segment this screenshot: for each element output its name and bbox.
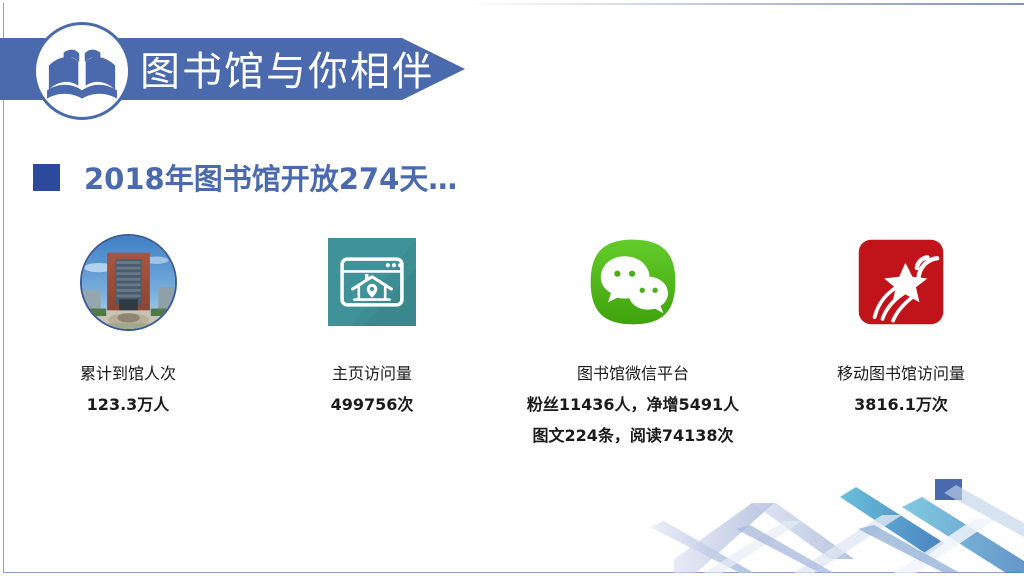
subtitle-text: 2018年图书馆开放274天… (84, 156, 457, 198)
subtitle-bullet-square (33, 164, 60, 191)
mobile-library-icon (857, 238, 945, 326)
wechat-icon (587, 236, 679, 328)
stat-value: 499756次 (331, 389, 414, 420)
top-gradient-rule (0, 3, 1024, 5)
blue-square-accent (935, 479, 962, 500)
stat-caption: 累计到馆人次 123.3万人 (80, 358, 176, 420)
stat-value: 3816.1万次 (837, 389, 965, 420)
stat-icon-wrap (80, 228, 177, 336)
open-book-icon (33, 22, 131, 120)
stat-label: 移动图书馆访问量 (837, 358, 965, 389)
stat-caption: 图书馆微信平台 粉丝11436人，净增5491人 图文224条，阅读74138次 (527, 358, 739, 451)
stat-label: 累计到馆人次 (80, 358, 176, 389)
stat-label: 图书馆微信平台 (527, 358, 739, 389)
stat-icon-wrap (328, 228, 416, 336)
stat-item-visitors: 累计到馆人次 123.3万人 (0, 228, 256, 451)
homepage-browser-icon (328, 238, 416, 326)
stat-caption: 主页访问量 499756次 (331, 358, 414, 420)
stat-item-mobile-library: 移动图书馆访问量 3816.1万次 (778, 228, 1024, 451)
stat-label: 主页访问量 (331, 358, 414, 389)
stat-value-secondary: 图文224条，阅读74138次 (527, 420, 739, 451)
stat-value: 123.3万人 (80, 389, 176, 420)
frame-line-bottom (3, 572, 1021, 573)
subtitle-row: 2018年图书馆开放274天… (33, 156, 457, 198)
slide-canvas: 图书馆与你相伴 2018年图书馆开放274天… (0, 0, 1024, 576)
diagonal-zigzag-ribbons (644, 463, 1024, 573)
stat-icon-wrap (857, 228, 945, 336)
stats-row: 累计到馆人次 123.3万人 (0, 228, 1024, 451)
stat-caption: 移动图书馆访问量 3816.1万次 (837, 358, 965, 420)
stat-item-homepage: 主页访问量 499756次 (256, 228, 488, 451)
stat-item-wechat: 图书馆微信平台 粉丝11436人，净增5491人 图文224条，阅读74138次 (488, 228, 778, 451)
library-building-photo (80, 234, 177, 331)
banner-title: 图书馆与你相伴 (140, 39, 434, 97)
stat-icon-wrap (587, 228, 679, 336)
stat-value: 粉丝11436人，净增5491人 (527, 389, 739, 420)
